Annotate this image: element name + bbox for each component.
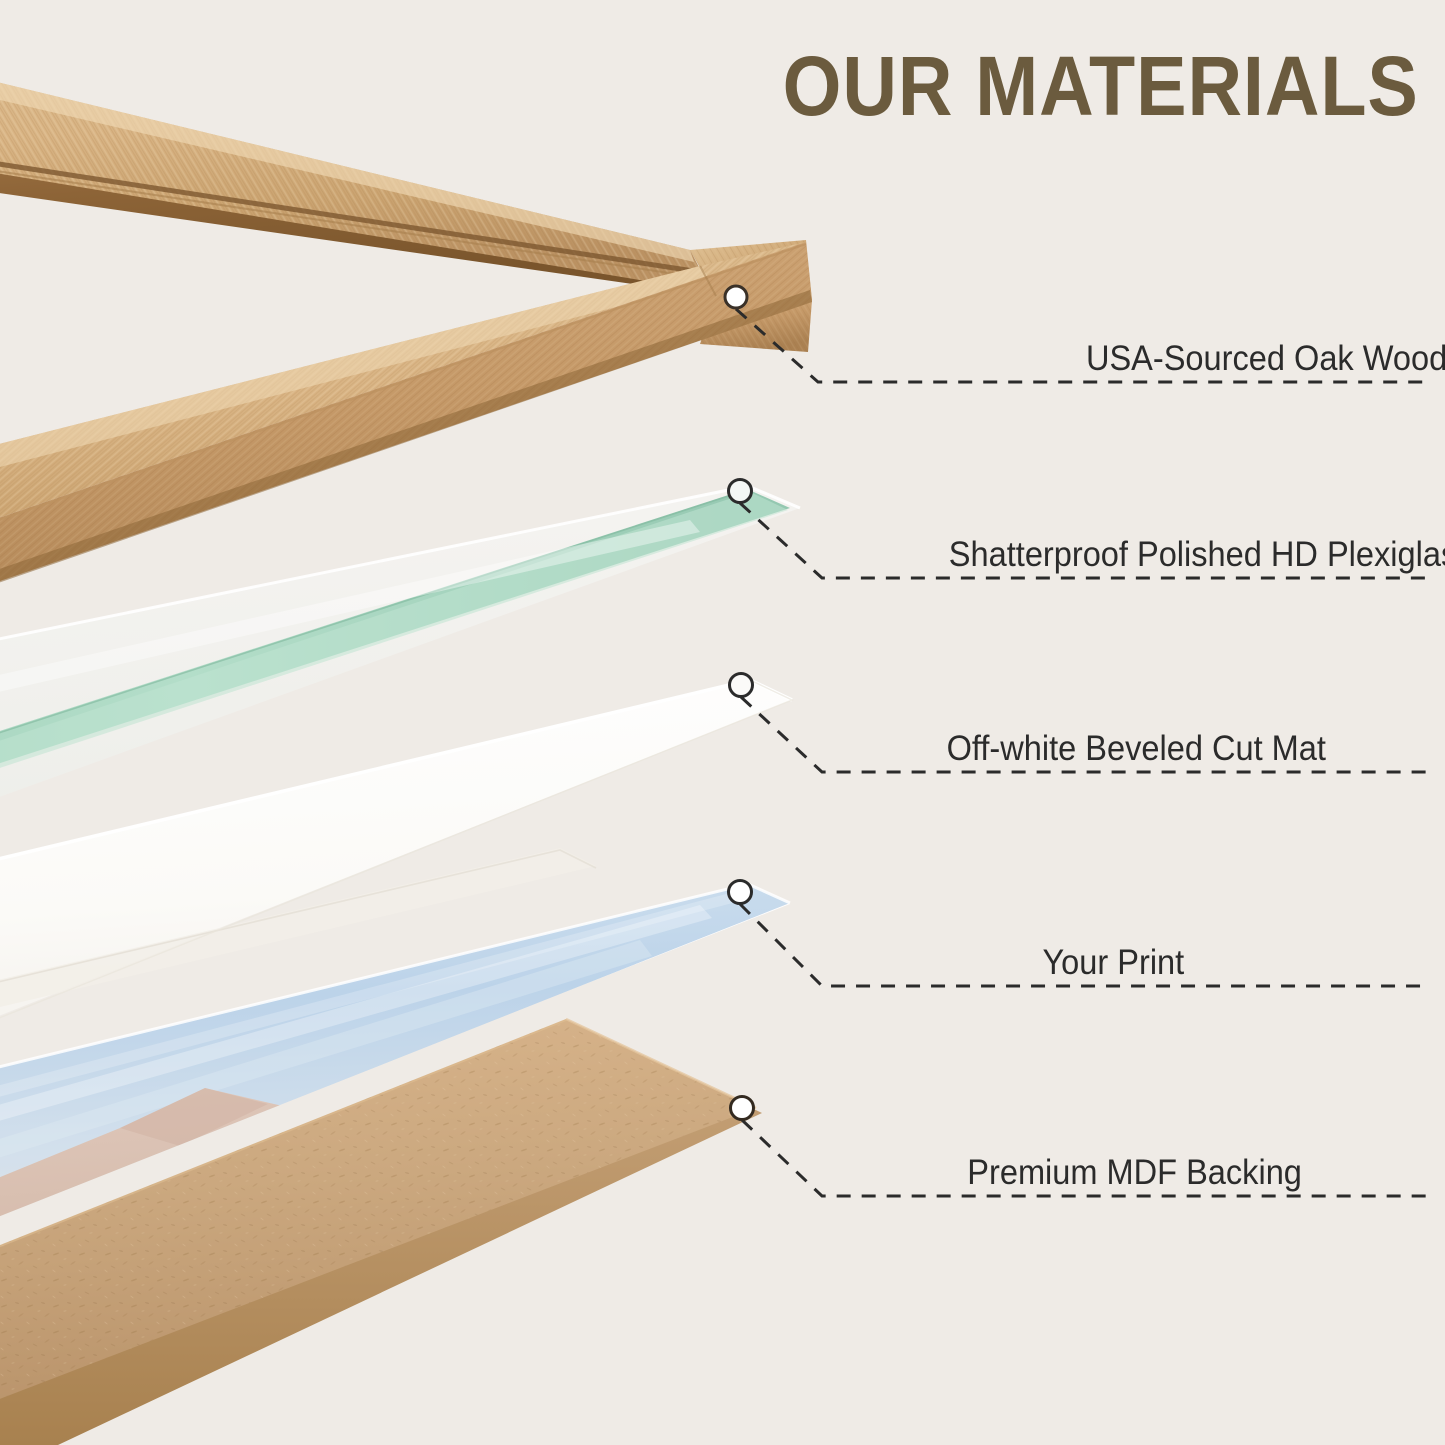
callout-dot-print[interactable] — [729, 881, 752, 904]
callout-label-oak-wood: USA-Sourced Oak Wood — [1086, 341, 1445, 376]
materials-infographic: OUR MATERIALS USA-Sourced Oak Wood Shatt… — [0, 0, 1445, 1445]
callout-dot-mat[interactable] — [730, 674, 753, 697]
callout-dot-oak-wood[interactable] — [725, 286, 747, 308]
callout-label-print: Your Print — [1042, 945, 1184, 980]
callout-label-plexiglass: Shatterproof Polished HD Plexiglass — [949, 537, 1445, 572]
callout-dot-plexiglass[interactable] — [729, 480, 752, 503]
callout-dot-mdf-backing[interactable] — [731, 1097, 754, 1120]
callout-label-mat: Off-white Beveled Cut Mat — [947, 731, 1326, 766]
callout-leader-lines — [0, 0, 1445, 1445]
callout-label-mdf-backing: Premium MDF Backing — [967, 1155, 1302, 1190]
